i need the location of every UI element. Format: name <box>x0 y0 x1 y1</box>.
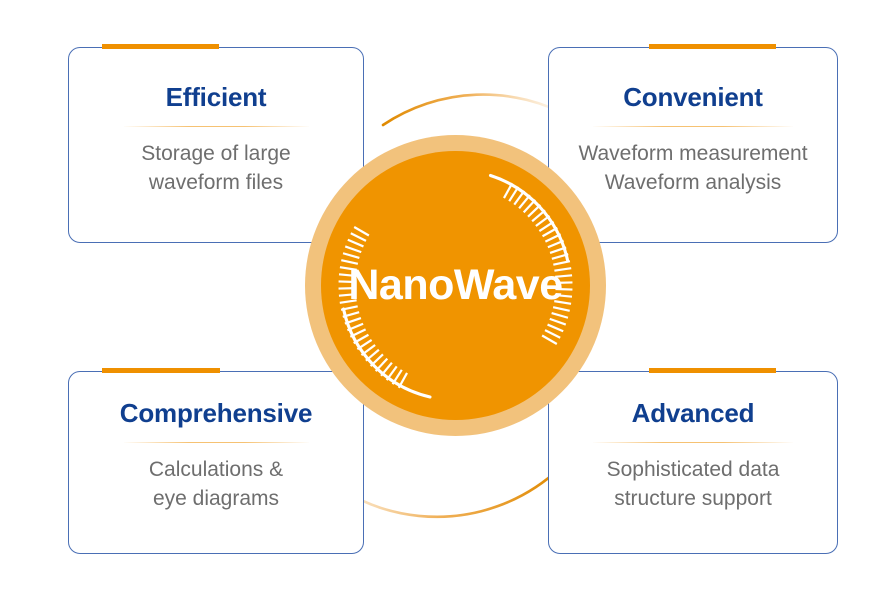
card-title: Efficient <box>69 84 363 110</box>
card-accent-bar <box>649 44 776 49</box>
center-badge[interactable]: NanoWave <box>305 135 606 436</box>
card-accent-bar <box>649 368 776 373</box>
card-accent-bar <box>102 368 220 373</box>
card-description-line: eye diagrams <box>69 485 363 514</box>
card-description: Sophisticated data structure support <box>549 456 837 514</box>
card-title: Convenient <box>549 84 837 110</box>
card-divider <box>593 126 793 127</box>
card-description-line: Sophisticated data <box>549 456 837 485</box>
card-divider <box>124 442 309 443</box>
card-description-line: structure support <box>549 485 837 514</box>
card-description-line: Calculations & <box>69 456 363 485</box>
infographic-stage: Efficient Storage of large waveform file… <box>0 0 886 591</box>
badge-label: NanoWave <box>305 135 606 436</box>
card-description: Calculations & eye diagrams <box>69 456 363 514</box>
card-accent-bar <box>102 44 219 49</box>
card-divider <box>593 442 793 443</box>
orange-arc-top-icon <box>383 95 572 125</box>
card-divider <box>124 126 309 127</box>
